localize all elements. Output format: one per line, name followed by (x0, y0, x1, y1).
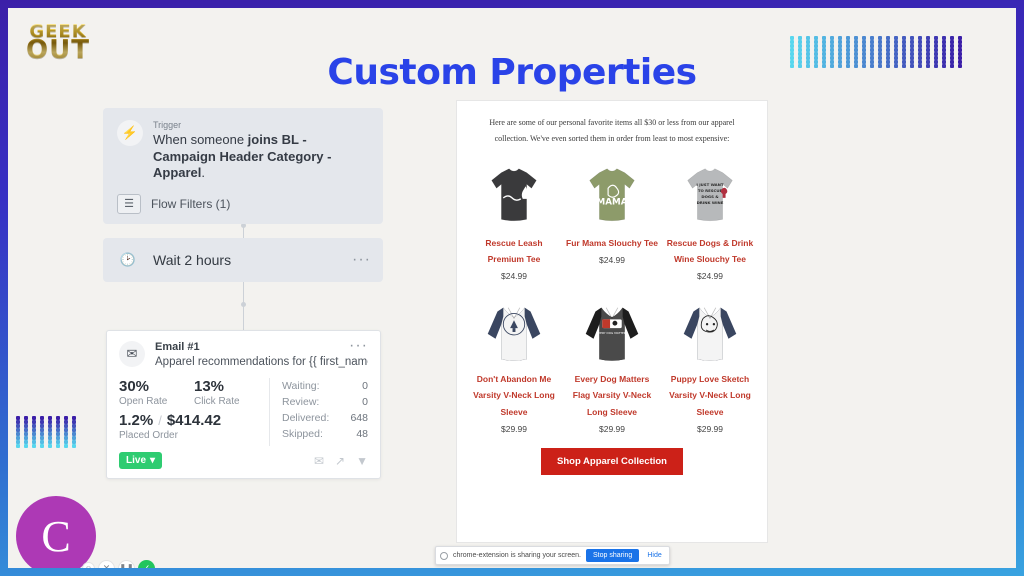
email-title: Email #1 (155, 341, 200, 353)
stat-row: Skipped: 48 (282, 428, 368, 440)
metric-click-rate: 13% Click Rate (194, 378, 269, 412)
email-card[interactable]: ✉ Email #1 ··· Apparel recommendations f… (106, 330, 381, 479)
product-name[interactable]: Don't Abandon Me Varsity V-Neck Long Sle… (468, 371, 560, 419)
product-name[interactable]: Every Dog Matters Flag Varsity V-Neck Lo… (566, 371, 658, 419)
status-badge-label: Live (126, 455, 146, 466)
cta-wrapper: Shop Apparel Collection (457, 448, 767, 475)
product-card[interactable]: EVERY DOG MATTERSEvery Dog Matters Flag … (563, 291, 661, 441)
trigger-text-prefix: When someone (153, 132, 248, 147)
preview-intro-text: Here are some of our personal favorite i… (457, 101, 767, 153)
email-card-menu-button[interactable]: ··· (349, 341, 368, 351)
product-name[interactable]: Rescue Dogs & Drink Wine Slouchy Tee (664, 235, 756, 267)
dot-pattern-top-right (790, 36, 966, 68)
dot (40, 444, 44, 448)
placed-order-percent: 1.2% (119, 412, 153, 429)
envelope-icon[interactable]: ✉ (314, 454, 324, 468)
chevron-down-icon: ▾ (150, 455, 155, 466)
stat-row: Waiting: 0 (282, 380, 368, 392)
dot (806, 64, 810, 68)
placed-order-separator: / (158, 413, 162, 428)
product-name[interactable]: Puppy Love Sketch Varsity V-Neck Long Sl… (664, 371, 756, 419)
product-price: $29.99 (468, 424, 560, 434)
metric-open-rate: 30% Open Rate (119, 378, 194, 412)
product-image (674, 295, 746, 367)
screen-share-bar: chrome-extension is sharing your screen.… (435, 546, 670, 565)
filter-list-icon: ☰ (117, 194, 141, 214)
stop-sharing-button[interactable]: Stop sharing (586, 549, 639, 562)
placed-order-revenue: $414.42 (167, 412, 221, 429)
stat-value: 648 (350, 412, 368, 424)
dot (790, 64, 794, 68)
stat-label: Review: (282, 396, 319, 408)
metric-label: Open Rate (119, 396, 194, 407)
product-name[interactable]: Rescue Leash Premium Tee (468, 235, 560, 267)
stat-value: 48 (356, 428, 368, 440)
confirm-icon[interactable]: ✓ (138, 560, 155, 568)
clock-icon: 🕑 (115, 247, 141, 273)
connector-dot (241, 302, 246, 307)
svg-text:EVERY DOG MATTERS: EVERY DOG MATTERS (596, 331, 628, 335)
dot (32, 444, 36, 448)
metric-label: Click Rate (194, 396, 269, 407)
pause-icon[interactable]: ❚❚ (118, 560, 135, 568)
product-image (478, 295, 550, 367)
screen-share-icon (440, 552, 448, 560)
shop-apparel-collection-button[interactable]: Shop Apparel Collection (541, 448, 683, 475)
dot (838, 64, 842, 68)
avatar-initial: C (41, 511, 70, 562)
dot (910, 64, 914, 68)
webcam-controls: ☺ ✕ ❚❚ ✓ (82, 560, 155, 568)
dot (862, 64, 866, 68)
dot (56, 444, 60, 448)
svg-text:TO RESCUE: TO RESCUE (698, 188, 723, 193)
metric-value: 13% (194, 378, 269, 395)
product-image: MAMA (576, 159, 648, 231)
dot (854, 64, 858, 68)
product-price: $29.99 (566, 424, 658, 434)
product-grid-row-2: Don't Abandon Me Varsity V-Neck Long Sle… (457, 289, 767, 441)
svg-text:DRINK WINE: DRINK WINE (697, 200, 724, 205)
dot (814, 64, 818, 68)
product-image: I JUST WANTTO RESCUE DOGS &DRINK WINE (674, 159, 746, 231)
reaction-icon[interactable]: ☺ (82, 562, 95, 568)
product-card[interactable]: Puppy Love Sketch Varsity V-Neck Long Sl… (661, 291, 759, 441)
svg-text:DOGS &: DOGS & (701, 194, 719, 199)
trigger-text-suffix: . (201, 165, 205, 180)
screen-share-message: chrome-extension is sharing your screen. (453, 552, 581, 559)
product-price: $24.99 (468, 271, 560, 281)
metric-placed-order: 1.2% / $414.42 Placed Order (119, 412, 269, 441)
stat-label: Delivered: (282, 412, 329, 424)
email-subject: Apparel recommendations for {{ first_nam… (155, 356, 368, 368)
email-stats: Waiting: 0 Review: 0 Delivered: 648 Sk (269, 378, 368, 446)
dot (846, 64, 850, 68)
dot (64, 444, 68, 448)
dot (886, 64, 890, 68)
flow-filters-label[interactable]: Flow Filters (1) (151, 197, 230, 211)
product-price: $24.99 (664, 271, 756, 281)
dot (16, 444, 20, 448)
dot (950, 64, 954, 68)
product-card[interactable]: Don't Abandon Me Varsity V-Neck Long Sle… (465, 291, 563, 441)
stat-row: Review: 0 (282, 396, 368, 408)
dot (48, 444, 52, 448)
hide-sharing-button[interactable]: Hide (644, 552, 664, 559)
stat-row: Delivered: 648 (282, 412, 368, 424)
status-badge[interactable]: Live ▾ (119, 452, 162, 469)
product-card[interactable]: Rescue Leash Premium Tee$24.99 (465, 155, 563, 289)
webcam-avatar[interactable]: C (16, 496, 96, 568)
slide-canvas: GEEK OUT Custom Properties ⚡ Trigger Whe (8, 8, 1016, 568)
dot (24, 444, 28, 448)
wait-label: Wait 2 hours (153, 252, 340, 268)
stat-value: 0 (362, 380, 368, 392)
bolt-icon: ⚡ (117, 120, 143, 146)
wait-card[interactable]: 🕑 Wait 2 hours ··· (103, 238, 383, 282)
dot (918, 64, 922, 68)
product-card[interactable]: MAMAFur Mama Slouchy Tee$24.99 (563, 155, 661, 289)
stat-label: Waiting: (282, 380, 320, 392)
wait-card-menu-button[interactable]: ··· (352, 251, 371, 269)
trigger-text: When someone joins BL - Campaign Header … (153, 132, 369, 182)
dot (934, 64, 938, 68)
product-image (478, 159, 550, 231)
dot (958, 64, 962, 68)
email-preview: Here are some of our personal favorite i… (456, 100, 768, 543)
dot (798, 64, 802, 68)
metric-value: 30% (119, 378, 194, 395)
dot (942, 64, 946, 68)
slide-frame: GEEK OUT Custom Properties ⚡ Trigger Whe (0, 0, 1024, 576)
placed-order-label: Placed Order (119, 430, 269, 441)
trigger-card[interactable]: ⚡ Trigger When someone joins BL - Campai… (103, 108, 383, 224)
dot (878, 64, 882, 68)
analytics-icon[interactable]: ↗ (335, 454, 345, 468)
svg-text:I JUST WANT: I JUST WANT (696, 182, 724, 187)
stat-value: 0 (362, 396, 368, 408)
svg-text:MAMA: MAMA (597, 198, 628, 208)
product-grid-row-1: Rescue Leash Premium Tee$24.99 MAMAFur M… (457, 153, 767, 289)
dot (894, 64, 898, 68)
product-image: EVERY DOG MATTERS (576, 295, 648, 367)
product-price: $24.99 (566, 255, 658, 265)
close-icon[interactable]: ✕ (98, 560, 115, 568)
product-name[interactable]: Fur Mama Slouchy Tee (566, 235, 658, 251)
dot (830, 64, 834, 68)
flow-builder: ⚡ Trigger When someone joins BL - Campai… (70, 92, 400, 562)
stat-label: Skipped: (282, 428, 323, 440)
dot (902, 64, 906, 68)
product-card[interactable]: I JUST WANTTO RESCUE DOGS &DRINK WINE Re… (661, 155, 759, 289)
product-price: $29.99 (664, 424, 756, 434)
trigger-label: Trigger (153, 120, 369, 130)
dot (870, 64, 874, 68)
dot (822, 64, 826, 68)
envelope-icon: ✉ (119, 341, 145, 367)
dot (926, 64, 930, 68)
filter-icon[interactable]: ▼ (356, 454, 368, 468)
